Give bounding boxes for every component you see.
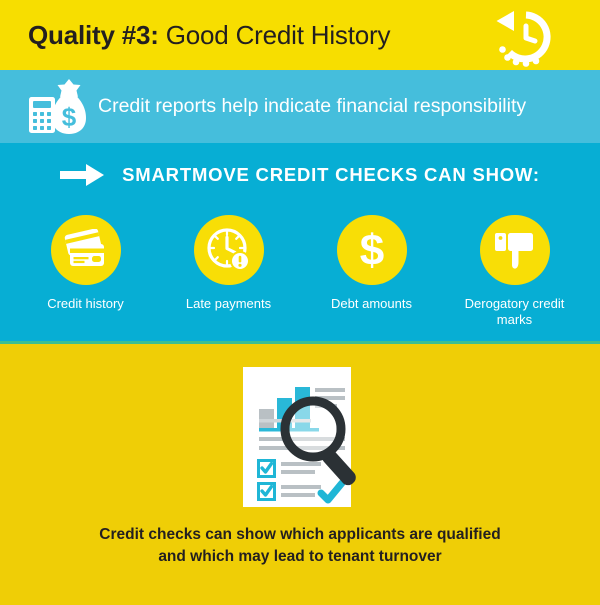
feature-circle: $ bbox=[337, 215, 407, 285]
bottom-caption: Credit checks can show which applicants … bbox=[0, 524, 600, 568]
subhead-text: Credit reports help indicate financial r… bbox=[98, 95, 526, 118]
credit-cards-icon bbox=[63, 229, 109, 271]
feature-label: Credit history bbox=[47, 296, 124, 312]
section-heading-row: SMARTMOVE CREDIT CHECKS CAN SHOW: bbox=[0, 163, 600, 187]
clock-history-icon bbox=[487, 7, 565, 67]
thumbs-down-icon bbox=[493, 229, 537, 271]
feature-item-debt-amounts[interactable]: $ Debt amounts bbox=[300, 215, 443, 329]
svg-text:$: $ bbox=[62, 102, 77, 132]
main-cyan-band: SMARTMOVE CREDIT CHECKS CAN SHOW: bbox=[0, 143, 600, 343]
feature-label: Debt amounts bbox=[331, 296, 412, 312]
page-title: Quality #3: Good Credit History bbox=[28, 20, 390, 51]
page-title-rest: Good Credit History bbox=[159, 20, 391, 50]
feature-label: Late payments bbox=[186, 296, 271, 312]
feature-item-late-payments[interactable]: Late payments bbox=[157, 215, 300, 329]
bottom-band: Credit checks can show which applicants … bbox=[0, 344, 600, 605]
svg-text:$: $ bbox=[359, 227, 383, 273]
feature-item-derogatory-marks[interactable]: Derogatory credit marks bbox=[443, 215, 586, 329]
feature-circle bbox=[51, 215, 121, 285]
section-heading: SMARTMOVE CREDIT CHECKS CAN SHOW: bbox=[122, 164, 540, 186]
infographic-page: Quality #3: Good Credit History bbox=[0, 0, 600, 605]
clock-alert-icon bbox=[206, 227, 252, 273]
calculator-money-bag-icon: $ bbox=[28, 79, 90, 135]
document-magnifier-icon bbox=[243, 367, 377, 507]
subhead-band: $ Credit reports help indicate financial… bbox=[0, 70, 600, 143]
feature-circle bbox=[480, 215, 550, 285]
feature-label: Derogatory credit marks bbox=[450, 296, 580, 329]
feature-list: Credit history bbox=[14, 215, 586, 329]
right-arrow-icon bbox=[60, 163, 104, 187]
page-title-strong: Quality #3: bbox=[28, 20, 159, 50]
feature-item-credit-history[interactable]: Credit history bbox=[14, 215, 157, 329]
dollar-sign-icon: $ bbox=[350, 227, 394, 273]
header-band: Quality #3: Good Credit History bbox=[0, 0, 600, 70]
feature-circle bbox=[194, 215, 264, 285]
